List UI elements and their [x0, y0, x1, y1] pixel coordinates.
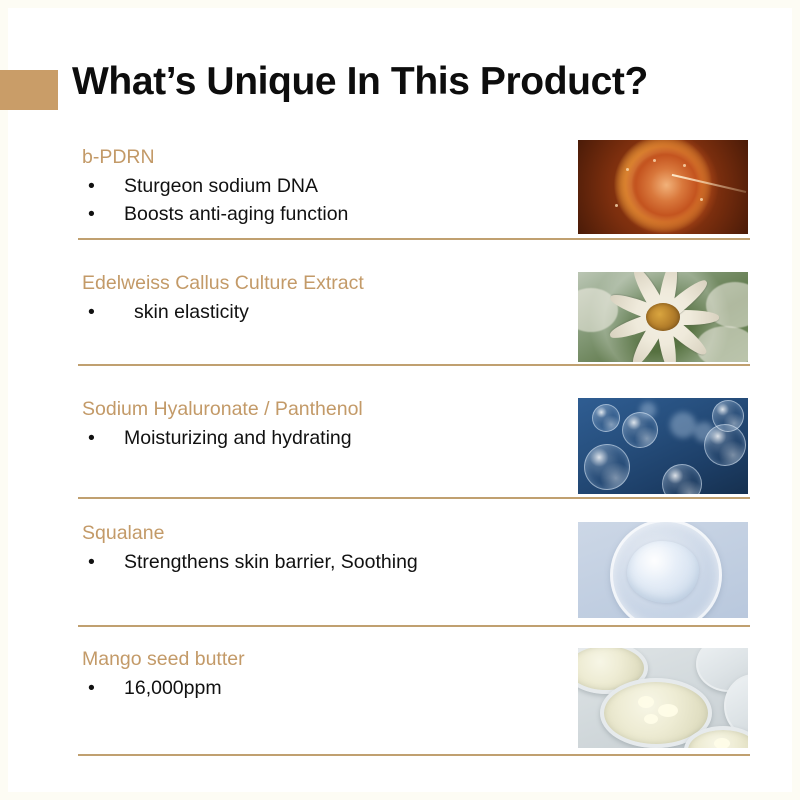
- list-item: • Boosts anti-aging function: [82, 200, 348, 228]
- bullet-icon: •: [88, 424, 95, 452]
- list-item: • 16,000ppm: [82, 674, 222, 702]
- block-divider: [78, 754, 750, 756]
- ingredient-heading: Edelweiss Callus Culture Extract: [82, 272, 364, 295]
- block-divider: [78, 625, 750, 627]
- bullet-icon: •: [88, 298, 95, 326]
- ingredient-bullet-list: • Strengthens skin barrier, Soothing: [82, 548, 418, 576]
- ingredient-heading: Sodium Hyaluronate / Panthenol: [82, 398, 363, 421]
- ingredient-bullet-list: • Moisturizing and hydrating: [82, 424, 352, 452]
- gel-in-petri-dish-image: [578, 522, 748, 618]
- list-item-label: Boosts anti-aging function: [124, 203, 348, 225]
- ingredient-heading: b-PDRN: [82, 146, 155, 169]
- list-item-label: skin elasticity: [134, 301, 249, 323]
- ingredient-heading: Squalane: [82, 522, 164, 545]
- block-divider: [78, 364, 750, 366]
- bullet-icon: •: [88, 172, 95, 200]
- slide-root: What’s Unique In This Product? b-PDRN • …: [0, 0, 800, 800]
- list-item: • Sturgeon sodium DNA: [82, 172, 348, 200]
- list-item-label: Strengthens skin barrier, Soothing: [124, 551, 418, 573]
- list-item-label: 16,000ppm: [124, 677, 222, 699]
- list-item: • Strengthens skin barrier, Soothing: [82, 548, 418, 576]
- bullet-icon: •: [88, 674, 95, 702]
- page-title: What’s Unique In This Product?: [72, 60, 648, 104]
- gel-blob: [627, 541, 699, 603]
- water-bubbles-image: [578, 398, 748, 494]
- list-item: • Moisturizing and hydrating: [82, 424, 352, 452]
- bullet-icon: •: [88, 548, 95, 576]
- edelweiss-flower-image: [578, 272, 748, 362]
- block-divider: [78, 497, 750, 499]
- block-divider: [78, 238, 750, 240]
- list-item-label: Moisturizing and hydrating: [124, 427, 352, 449]
- butter-tins-image: [578, 648, 748, 748]
- list-item-label: Sturgeon sodium DNA: [124, 175, 318, 197]
- ingredient-heading: Mango seed butter: [82, 648, 245, 671]
- ingredient-bullet-list: • skin elasticity: [82, 298, 249, 326]
- ingredient-bullet-list: • Sturgeon sodium DNA • Boosts anti-agin…: [82, 172, 348, 228]
- ovum-micro-injection-image: [578, 140, 748, 234]
- needle-icon: [672, 174, 747, 193]
- bullet-icon: •: [88, 200, 95, 228]
- ingredient-bullet-list: • 16,000ppm: [82, 674, 222, 702]
- list-item: • skin elasticity: [82, 298, 249, 326]
- title-accent-bar: [0, 70, 58, 110]
